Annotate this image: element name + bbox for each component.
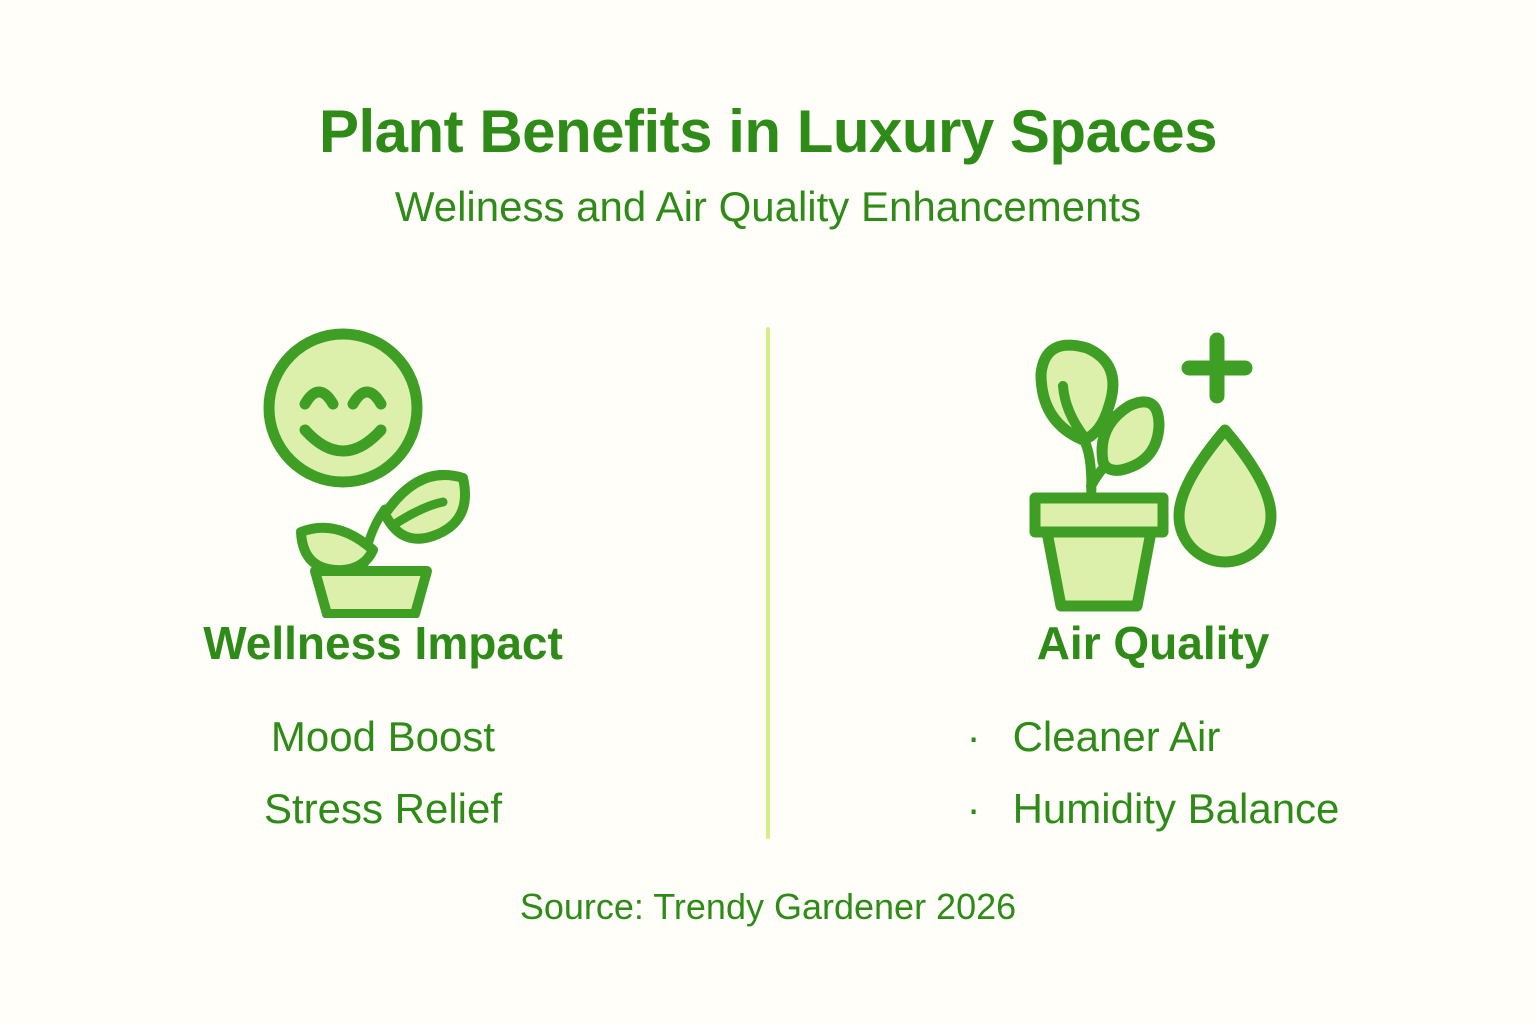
bullet-icon: · [967,701,1013,773]
plant-leaf-small [301,528,373,570]
list-item-label: Cleaner Air [1013,701,1221,773]
plus-icon [1189,340,1245,396]
infographic-canvas: Plant Benefits in Luxury Spaces Weliness… [0,0,1536,1024]
smiley-face-with-potted-plant-icon [253,318,513,618]
source-attribution: Source: Trendy Gardener 2026 [0,885,1536,928]
column-wellness: Wellness Impact Mood Boost Stress Relief [0,318,766,848]
page-title: Plant Benefits in Luxury Spaces [0,100,1536,163]
air-quality-icon-area [1003,318,1303,618]
list-item-label: Stress Relief [264,773,502,845]
list-item: Mood Boost [264,701,502,773]
airq-pot-body [1047,532,1151,606]
list-item-label: Mood Boost [271,701,495,773]
list-item: · Humidity Balance [967,773,1340,845]
column-heading-wellness: Wellness Impact [203,618,563,669]
list-item-label: Humidity Balance [1013,773,1340,845]
column-air-quality: Air Quality · Cleaner Air · Humidity Bal… [770,318,1536,848]
airq-plant-stem [1085,442,1091,500]
header: Plant Benefits in Luxury Spaces Weliness… [0,100,1536,229]
water-droplet-icon [1179,430,1271,562]
content-columns: Wellness Impact Mood Boost Stress Relief [0,318,1536,848]
list-item: · Cleaner Air [967,701,1340,773]
footer: Source: Trendy Gardener 2026 [0,885,1536,928]
column-heading-air-quality: Air Quality [1037,618,1270,669]
air-quality-item-list: · Cleaner Air · Humidity Balance [967,701,1340,845]
wellness-item-list: Mood Boost Stress Relief [264,701,502,845]
page-subtitle: Weliness and Air Quality Enhancements [0,185,1536,229]
list-item: Stress Relief [264,773,502,845]
smiley-head-circle [269,334,417,482]
potted-plant-plus-water-droplet-icon [1003,318,1303,618]
bullet-icon: · [967,773,1013,845]
wellness-icon-area [253,318,513,618]
plant-pot [315,571,427,614]
